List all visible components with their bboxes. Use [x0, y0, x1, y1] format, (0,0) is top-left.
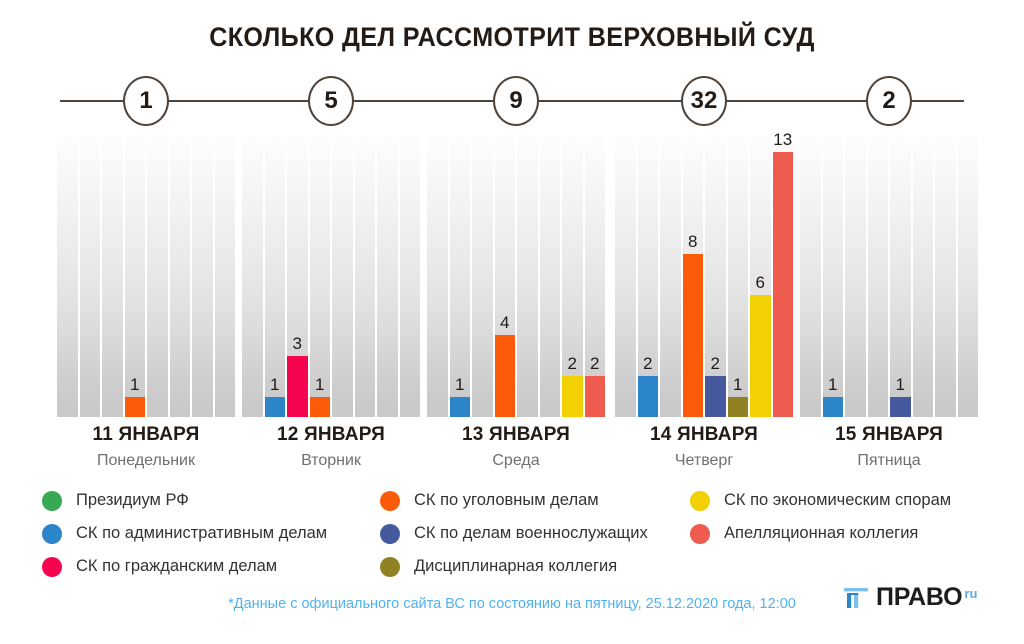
legend-column-1: Президиум РФСК по административным делам…	[42, 484, 327, 583]
bar-slot-civil: 3	[287, 137, 308, 417]
bar-slot-administrative: 1	[265, 137, 286, 417]
bar-slot-criminal	[868, 137, 889, 417]
bar-appeal[interactable]: 2	[585, 376, 606, 417]
bar-slot-administrative: 1	[823, 137, 844, 417]
legend-item-criminal[interactable]: СК по уголовным делам	[380, 484, 648, 517]
legend-label: СК по гражданским делам	[76, 557, 277, 576]
day-date: 15 ЯНВАРЯ	[800, 424, 978, 446]
bar-slot-presidium	[427, 137, 448, 417]
bar-value-label: 6	[750, 273, 771, 293]
chart-legend: Президиум РФСК по административным делам…	[0, 484, 1024, 574]
bar-administrative[interactable]: 1	[823, 397, 844, 417]
bar-economic[interactable]: 6	[750, 295, 771, 417]
bar-value-label: 2	[638, 354, 659, 374]
legend-swatch-icon	[380, 557, 400, 577]
bar-slot-appeal	[215, 137, 236, 417]
legend-item-disciplinary[interactable]: Дисциплинарная коллегия	[380, 550, 648, 583]
bar-value-label: 1	[823, 375, 844, 395]
legend-item-military[interactable]: СК по делам военнослужащих	[380, 517, 648, 550]
day-date: 14 ЯНВАРЯ	[615, 424, 793, 446]
legend-label: Дисциплинарная коллегия	[414, 557, 617, 576]
bar-value-label: 2	[562, 354, 583, 374]
legend-label: Апелляционная коллегия	[724, 524, 918, 543]
day-panel-2: 131	[242, 137, 420, 417]
bar-criminal[interactable]: 8	[683, 254, 704, 417]
legend-swatch-icon	[380, 524, 400, 544]
day-weekday: Пятница	[800, 452, 978, 470]
legend-swatch-icon	[690, 524, 710, 544]
legend-swatch-icon	[42, 557, 62, 577]
bar-slot-administrative: 2	[638, 137, 659, 417]
day-panel-4: 2821613	[615, 137, 793, 417]
bar-slot-economic	[935, 137, 956, 417]
day-weekday: Понедельник	[57, 452, 235, 470]
timeline-node-1: 1	[123, 76, 169, 126]
bar-slot-appeal	[400, 137, 421, 417]
bar-slot-criminal: 1	[310, 137, 331, 417]
day-weekday: Среда	[427, 452, 605, 470]
bar-criminal[interactable]: 1	[125, 397, 146, 417]
legend-label: СК по экономическим спорам	[724, 491, 951, 510]
bar-slot-civil	[472, 137, 493, 417]
bar-slot-military	[147, 137, 168, 417]
bar-slot-presidium	[615, 137, 636, 417]
day-date: 12 ЯНВАРЯ	[242, 424, 420, 446]
day-label-4: 14 ЯНВАРЯЧетверг	[615, 424, 793, 470]
bar-slot-military	[332, 137, 353, 417]
legend-swatch-icon	[690, 491, 710, 511]
legend-item-appeal[interactable]: Апелляционная коллегия	[690, 517, 951, 550]
bar-administrative[interactable]: 2	[638, 376, 659, 417]
bar-slot-military: 1	[890, 137, 911, 417]
day-date: 11 ЯНВАРЯ	[57, 424, 235, 446]
bar-value-label: 1	[310, 375, 331, 395]
timeline-node-5: 2	[866, 76, 912, 126]
bar-slot-appeal: 13	[773, 137, 794, 417]
bar-slot-civil	[845, 137, 866, 417]
legend-label: СК по административным делам	[76, 524, 327, 543]
legend-swatch-icon	[380, 491, 400, 511]
bar-criminal[interactable]: 1	[310, 397, 331, 417]
day-panel-5: 11	[800, 137, 978, 417]
bar-slot-appeal: 2	[585, 137, 606, 417]
bar-disciplinary[interactable]: 1	[728, 397, 749, 417]
timeline-node-2: 5	[308, 76, 354, 126]
pillar-icon	[843, 585, 869, 611]
bar-slot-civil	[660, 137, 681, 417]
day-weekday: Вторник	[242, 452, 420, 470]
legend-label: СК по уголовным делам	[414, 491, 599, 510]
bar-slot-disciplinary	[355, 137, 376, 417]
logo-suffix: ru	[964, 586, 977, 601]
bar-slot-administrative: 1	[450, 137, 471, 417]
bar-value-label: 1	[265, 375, 286, 395]
logo-wordmark: ПРАВО	[876, 583, 962, 612]
bar-value-label: 13	[773, 130, 794, 150]
bar-appeal[interactable]: 13	[773, 152, 794, 417]
bar-slot-presidium	[57, 137, 78, 417]
bar-slot-criminal: 1	[125, 137, 146, 417]
legend-label: СК по делам военнослужащих	[414, 524, 648, 543]
timeline-node-3: 9	[493, 76, 539, 126]
pravo-logo[interactable]: ПРАВО ru	[843, 583, 977, 612]
bar-slot-economic: 6	[750, 137, 771, 417]
day-panel-1: 1	[57, 137, 235, 417]
bar-slot-economic	[192, 137, 213, 417]
bar-administrative[interactable]: 1	[265, 397, 286, 417]
day-label-1: 11 ЯНВАРЯПонедельник	[57, 424, 235, 470]
page-title: СКОЛЬКО ДЕЛ РАССМОТРИТ ВЕРХОВНЫЙ СУД	[36, 22, 988, 53]
bar-slot-civil	[102, 137, 123, 417]
bar-slot-economic: 2	[562, 137, 583, 417]
bar-value-label: 1	[450, 375, 471, 395]
bar-value-label: 1	[125, 375, 146, 395]
bar-value-label: 3	[287, 334, 308, 354]
bar-military[interactable]: 2	[705, 376, 726, 417]
bar-value-label: 1	[890, 375, 911, 395]
day-label-3: 13 ЯНВАРЯСреда	[427, 424, 605, 470]
day-label-5: 15 ЯНВАРЯПятница	[800, 424, 978, 470]
legend-item-civil[interactable]: СК по гражданским делам	[42, 550, 327, 583]
bar-slot-criminal: 8	[683, 137, 704, 417]
bar-economic[interactable]: 2	[562, 376, 583, 417]
bar-slot-disciplinary: 1	[728, 137, 749, 417]
legend-item-presidium[interactable]: Президиум РФ	[42, 484, 327, 517]
bar-value-label: 8	[683, 232, 704, 252]
bar-slot-military	[517, 137, 538, 417]
bar-value-label: 2	[705, 354, 726, 374]
timeline: 159322	[0, 76, 1024, 126]
bar-slot-appeal	[958, 137, 979, 417]
legend-label: Президиум РФ	[76, 491, 189, 510]
bar-slot-criminal: 4	[495, 137, 516, 417]
bar-administrative[interactable]: 1	[450, 397, 471, 417]
bar-civil[interactable]: 3	[287, 356, 308, 417]
bar-slot-economic	[377, 137, 398, 417]
bar-slot-disciplinary	[170, 137, 191, 417]
legend-item-administrative[interactable]: СК по административным делам	[42, 517, 327, 550]
bar-slot-administrative	[80, 137, 101, 417]
bar-slot-presidium	[800, 137, 821, 417]
legend-item-economic[interactable]: СК по экономическим спорам	[690, 484, 951, 517]
day-date: 13 ЯНВАРЯ	[427, 424, 605, 446]
timeline-node-4: 32	[681, 76, 727, 126]
day-weekday: Четверг	[615, 452, 793, 470]
bar-value-label: 1	[728, 375, 749, 395]
legend-column-2: СК по уголовным деламСК по делам военнос…	[380, 484, 648, 583]
legend-column-3: СК по экономическим спорамАпелляционная …	[690, 484, 951, 550]
day-label-2: 12 ЯНВАРЯВторник	[242, 424, 420, 470]
bar-slot-military: 2	[705, 137, 726, 417]
chart-panels: 11311422282161311	[0, 137, 1024, 417]
day-panel-3: 1422	[427, 137, 605, 417]
legend-swatch-icon	[42, 491, 62, 511]
bar-slot-presidium	[242, 137, 263, 417]
bar-value-label: 4	[495, 313, 516, 333]
bar-criminal[interactable]: 4	[495, 335, 516, 417]
bar-military[interactable]: 1	[890, 397, 911, 417]
legend-swatch-icon	[42, 524, 62, 544]
bar-value-label: 2	[585, 354, 606, 374]
bar-slot-disciplinary	[913, 137, 934, 417]
bar-slot-disciplinary	[540, 137, 561, 417]
